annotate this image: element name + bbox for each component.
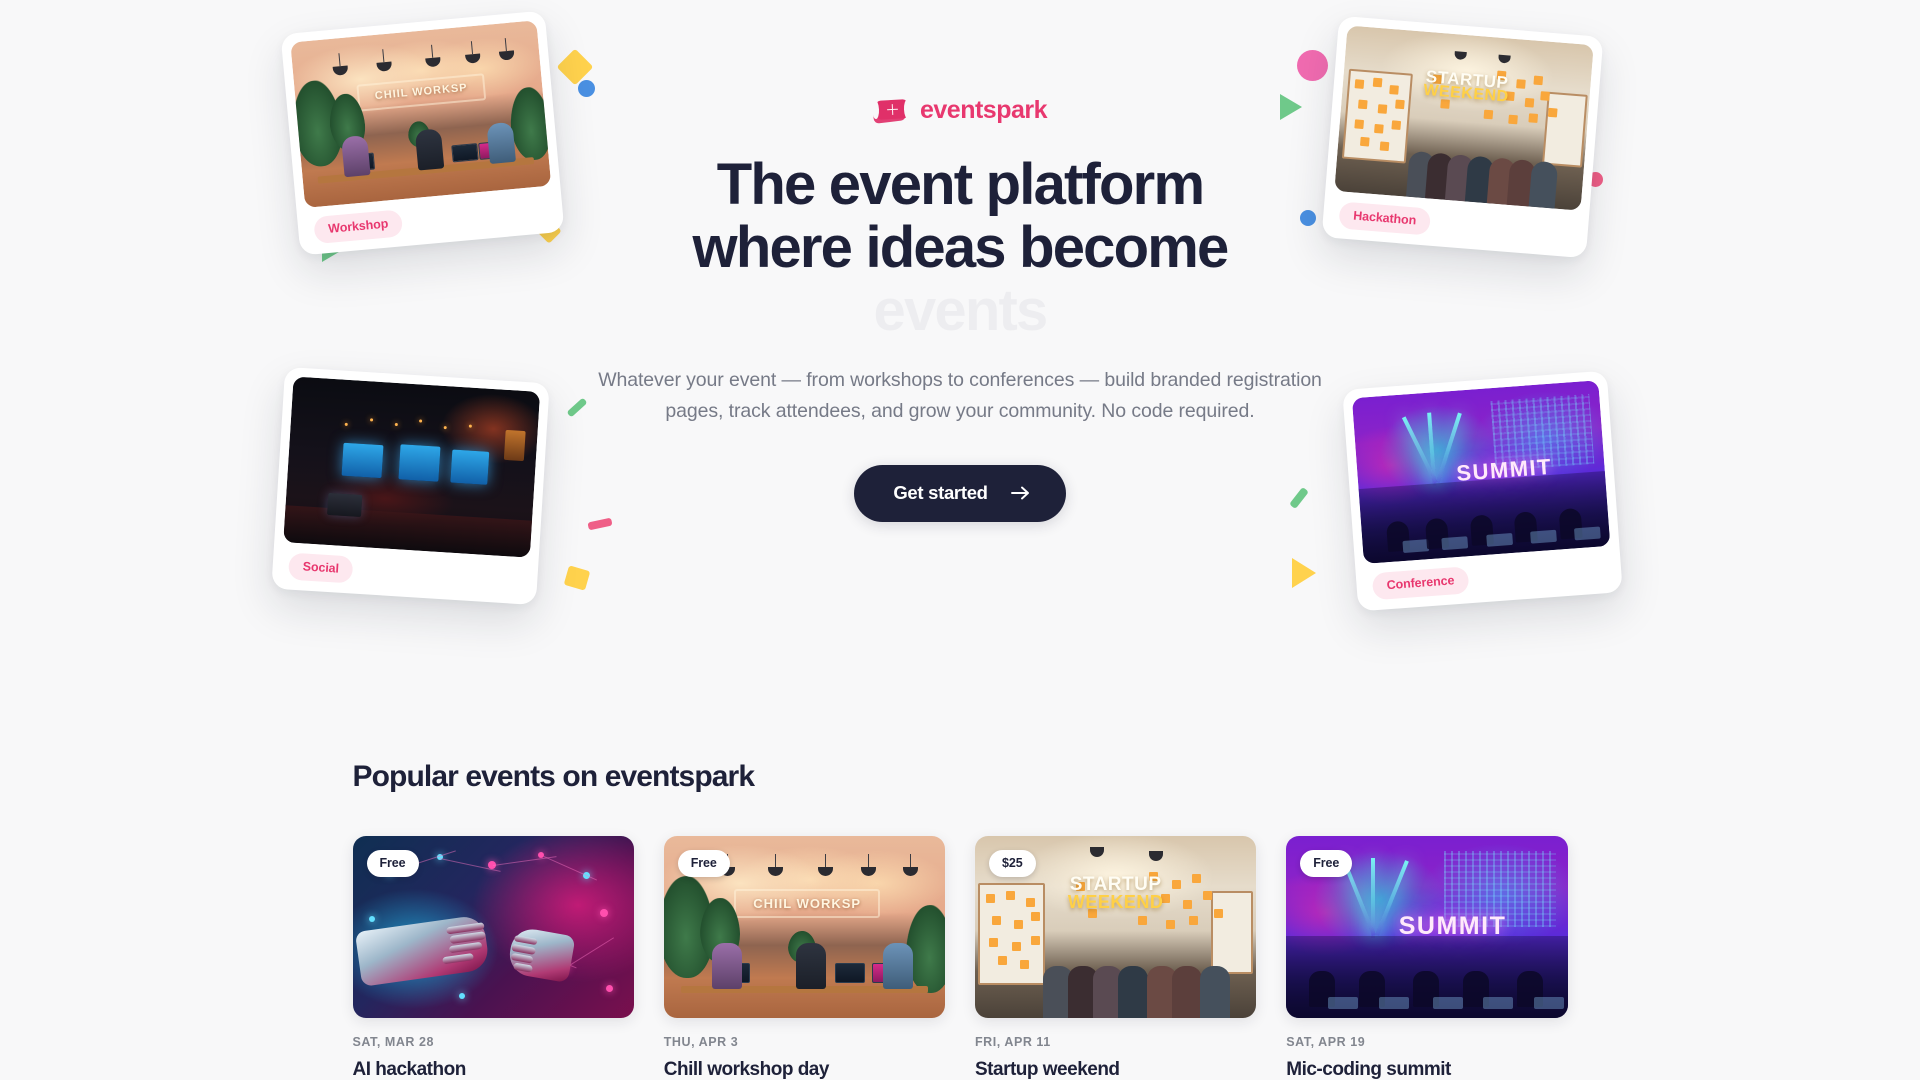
price-badge: Free: [1300, 850, 1352, 877]
floating-card-image-conference: SUMMIT: [1352, 380, 1610, 564]
floating-card-image-hackathon: STARTUP WEEKEND: [1334, 25, 1594, 210]
price-badge: Free: [678, 850, 730, 877]
floating-card-hackathon[interactable]: STARTUP WEEKEND Hackathon: [1322, 16, 1604, 259]
event-date: FRI, APR 11: [975, 1035, 1256, 1049]
get-started-button[interactable]: Get started: [854, 465, 1065, 522]
floating-card-conference[interactable]: SUMMIT Conference: [1342, 371, 1623, 612]
event-name[interactable]: Mic-coding summit: [1286, 1058, 1567, 1080]
headline-line-3: events: [580, 279, 1340, 342]
photo-wall-sign-text: CHIIL WORKSP: [734, 889, 880, 918]
event-card[interactable]: Free SUMMIT SAT, AP: [1286, 836, 1567, 1080]
event-name[interactable]: AI hackathon: [353, 1058, 634, 1080]
headline-line-2: where ideas become: [580, 216, 1340, 279]
event-name[interactable]: Startup weekend: [975, 1058, 1256, 1080]
hero-content: eventspark The event platform where idea…: [580, 96, 1340, 522]
tag-badge-hackathon: Hackathon: [1338, 201, 1431, 235]
subcopy-line-3: your community. No code required.: [956, 400, 1255, 422]
landing-page: CHIIL WORKSP Workshop: [0, 0, 1920, 1080]
event-card[interactable]: Free CHIIL WORKSP: [664, 836, 945, 1080]
photo-wall-sign-startup: STARTUP WEEKEND: [1396, 66, 1536, 107]
price-badge: Free: [367, 850, 419, 877]
event-thumbnail[interactable]: Free: [353, 836, 634, 1018]
headline-line-1: The event platform: [580, 153, 1340, 216]
tag-badge-conference: Conference: [1372, 566, 1470, 600]
hero-section: CHIIL WORKSP Workshop: [0, 0, 1920, 660]
photo-wall-sign-text: CHIIL WORKSP: [356, 73, 486, 111]
page-title: The event platform where ideas become ev…: [580, 153, 1340, 343]
tag-badge-workshop: Workshop: [313, 209, 403, 244]
event-grid: Free: [353, 836, 1568, 1080]
event-thumbnail[interactable]: $25: [975, 836, 1256, 1018]
event-card[interactable]: $25: [975, 836, 1256, 1080]
popular-events-title: Popular events on eventspark: [353, 760, 1568, 794]
event-name[interactable]: Chill workshop day: [664, 1058, 945, 1080]
decor-circle-blue: [578, 80, 595, 97]
event-date: THU, APR 3: [664, 1035, 945, 1049]
floating-card-social[interactable]: Social: [271, 367, 549, 605]
tag-badge-social: Social: [288, 553, 354, 584]
cta-row: Get started: [580, 465, 1340, 522]
event-thumbnail[interactable]: Free CHIIL WORKSP: [664, 836, 945, 1018]
brand-name: eventspark: [920, 96, 1047, 125]
get-started-label: Get started: [893, 482, 987, 504]
decor-circle-magenta: [1297, 50, 1328, 81]
price-badge: $25: [989, 850, 1036, 877]
decor-triangle-yellow: [1292, 558, 1316, 588]
event-date: SAT, APR 19: [1286, 1035, 1567, 1049]
arrow-right-icon: [1011, 486, 1030, 500]
ticket-sparkle-icon: [873, 98, 909, 123]
hero-subcopy: Whatever your event — from workshops to …: [580, 365, 1340, 428]
photo-wall-sign-startup: STARTUPWEEKEND: [1037, 876, 1195, 910]
event-thumbnail[interactable]: Free SUMMIT: [1286, 836, 1567, 1018]
floating-card-image-workshop: CHIIL WORKSP: [290, 20, 551, 208]
event-card[interactable]: Free: [353, 836, 634, 1080]
subcopy-line-1: Whatever your event — from workshops to …: [598, 369, 1099, 391]
decor-square-yellow: [564, 565, 591, 590]
popular-events-section: Popular events on eventspark Free: [0, 760, 1920, 1080]
floating-card-workshop[interactable]: CHIIL WORKSP Workshop: [280, 10, 564, 255]
floating-card-image-social: [283, 376, 540, 557]
event-date: SAT, MAR 28: [353, 1035, 634, 1049]
brand-logo[interactable]: eventspark: [580, 96, 1340, 125]
